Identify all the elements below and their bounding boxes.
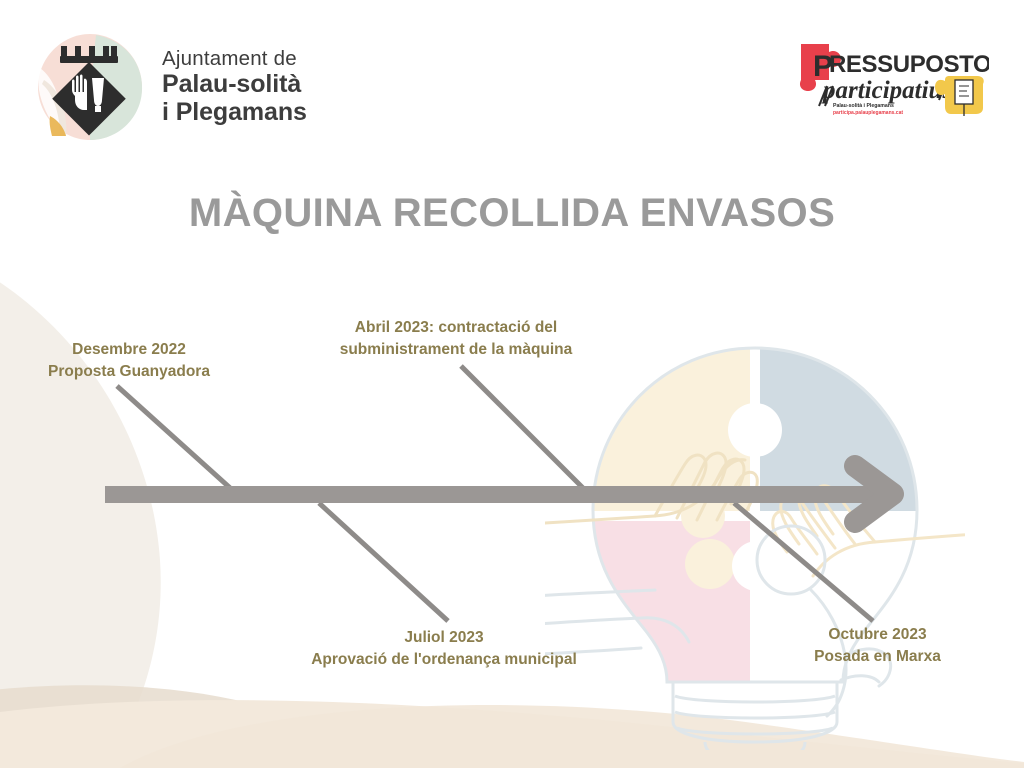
connector-desembre-2022 xyxy=(117,386,239,496)
timeline-arrow-shaft xyxy=(105,486,875,503)
milestone-date: Juliol 2023 xyxy=(404,629,483,646)
milestone-text: subministrament de la màquina xyxy=(301,339,611,361)
timeline-graphic: Desembre 2022 Proposta Guanyadora Abril … xyxy=(0,0,1024,768)
milestone-text: Proposta Guanyadora xyxy=(14,361,244,383)
milestone-text: Posada en Marxa xyxy=(765,646,990,668)
connector-abril-2023 xyxy=(461,366,591,496)
milestone-label-juliol-2023: Juliol 2023 Aprovació de l'ordenança mun… xyxy=(274,627,614,671)
milestone-label-octubre-2023: Octubre 2023 Posada en Marxa xyxy=(765,624,990,668)
milestone-label-abril-2023: Abril 2023: contractació del subministra… xyxy=(301,317,611,361)
milestone-text: Aprovació de l'ordenança municipal xyxy=(274,649,614,671)
milestone-date: Abril 2023: contractació del xyxy=(355,319,557,336)
slide-canvas: Ajuntament de Palau-solità i Plegamans P… xyxy=(0,0,1024,768)
connector-juliol-2023 xyxy=(319,503,448,621)
milestone-label-desembre-2022: Desembre 2022 Proposta Guanyadora xyxy=(14,339,244,383)
milestone-date: Desembre 2022 xyxy=(72,341,186,358)
milestone-date: Octubre 2023 xyxy=(828,626,926,643)
